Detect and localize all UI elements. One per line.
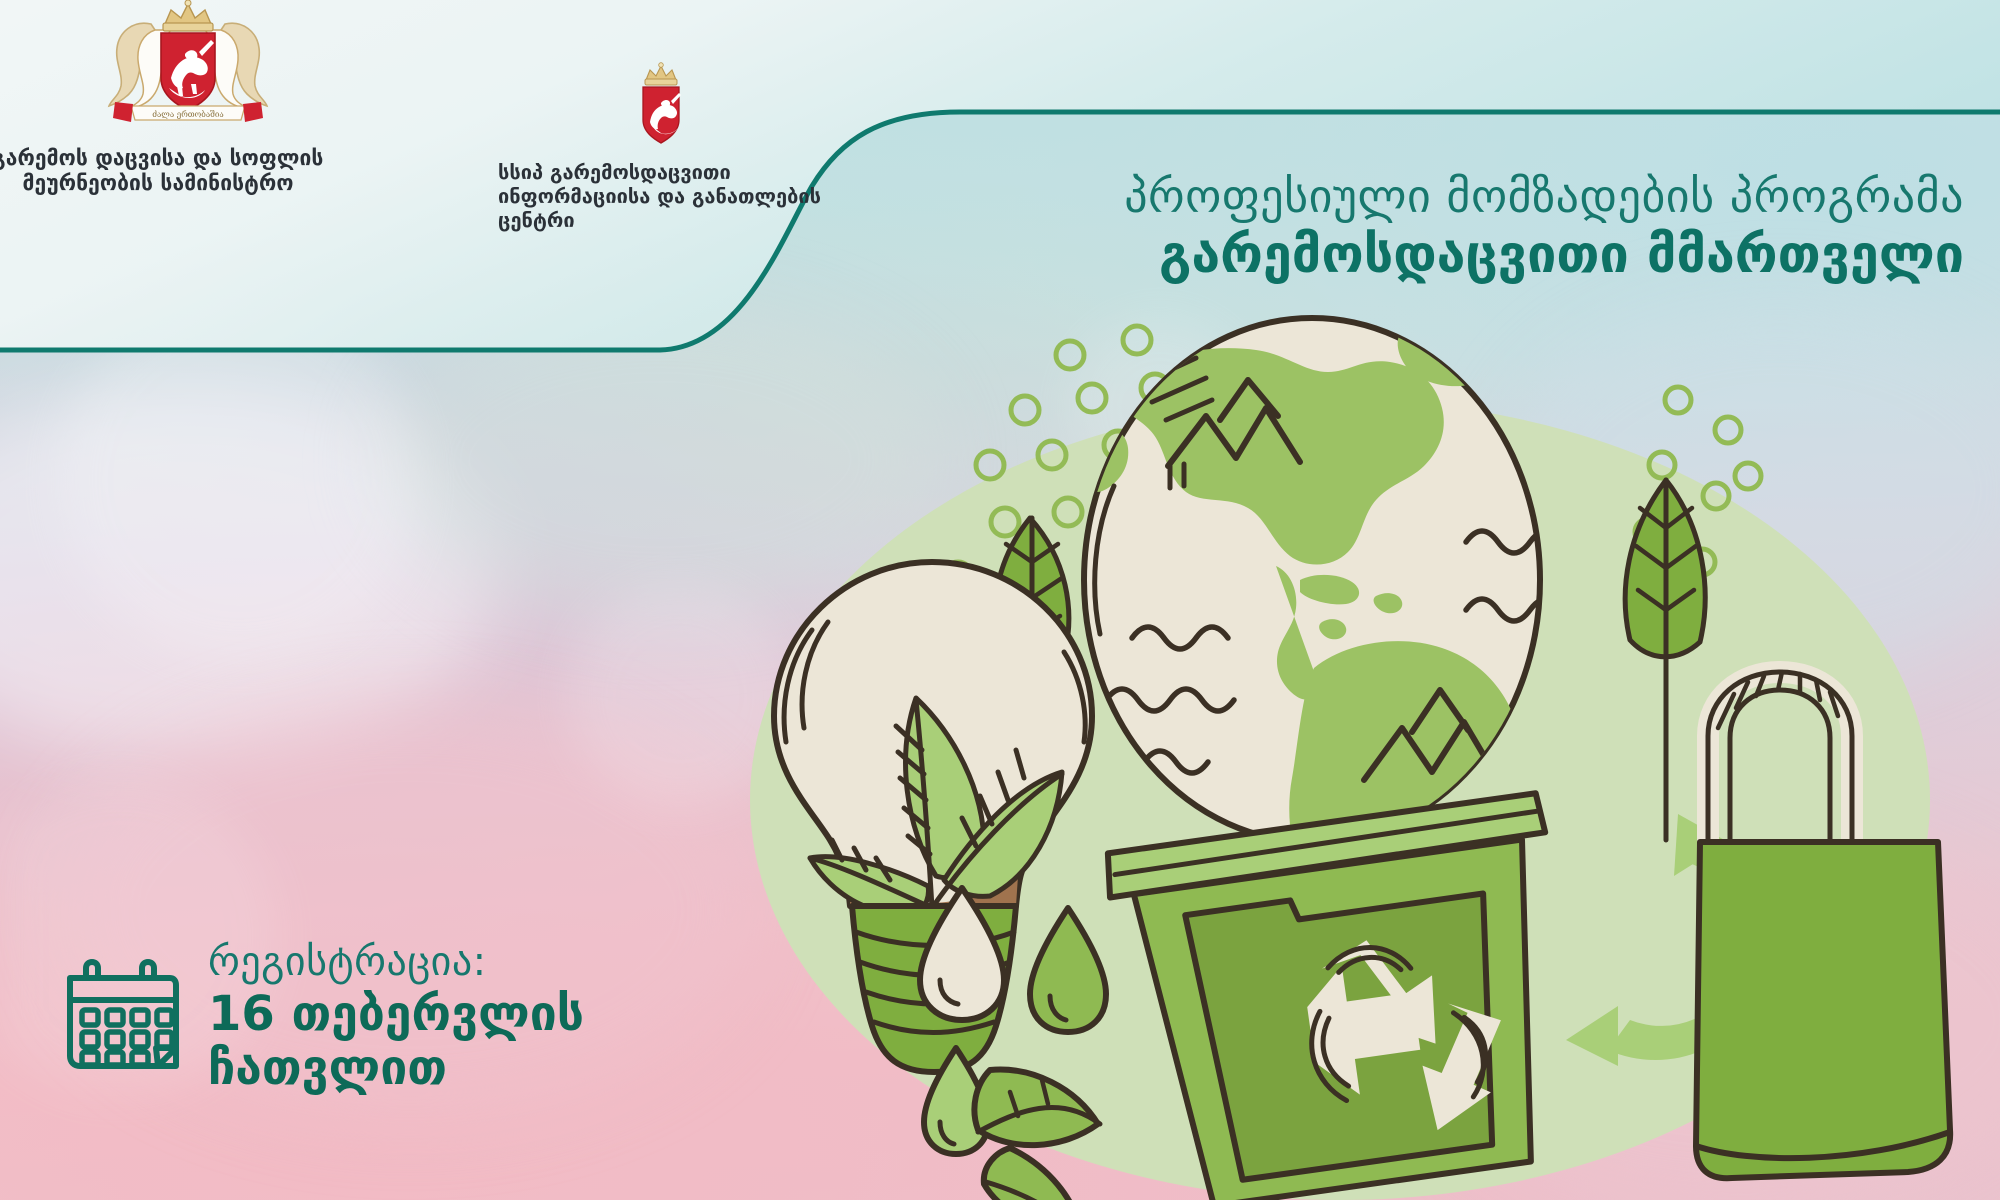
- registration-date-line-1: 16 თებერვლის: [208, 988, 584, 1042]
- georgia-coat-of-arms-icon: ძალა ერთობაშია: [93, 0, 283, 136]
- leaf-bottom-center: [984, 1148, 1080, 1200]
- svg-text:ძალა ერთობაშია: ძალა ერთობაშია: [152, 110, 223, 119]
- logo-ministry: ძალა ერთობაშია გარემოს დაცვისა და სოფლის…: [38, 0, 338, 196]
- registration-block: რეგისტრაცია: 16 თებერვლის ჩათვლით: [58, 940, 584, 1096]
- calendar-icon: [58, 956, 182, 1080]
- header-title-group: პროფესიული მომზადების პროგრამა გარემოსდა…: [764, 172, 1964, 283]
- eco-illustration: [700, 280, 2000, 1200]
- program-title: პროფესიული მომზადების პროგრამა: [764, 172, 1964, 220]
- poster-canvas: ძალა ერთობაშია გარემოს დაცვისა და სოფლის…: [0, 0, 2000, 1200]
- program-subtitle: გარემოსდაცვითი მმართველი: [764, 228, 1964, 283]
- registration-date-line-2: ჩათვლით: [208, 1042, 584, 1096]
- registration-label: რეგისტრაცია:: [208, 940, 584, 984]
- georgia-shield-icon: [628, 62, 694, 152]
- logo-ministry-label: გარემოს დაცვისა და სოფლის მეურნეობის სამ…: [0, 146, 368, 196]
- registration-text: რეგისტრაცია: 16 თებერვლის ჩათვლით: [208, 940, 584, 1096]
- shield-crown-icon: [645, 63, 677, 85]
- crown-icon: [163, 0, 213, 31]
- bag-body: [1696, 842, 1950, 1178]
